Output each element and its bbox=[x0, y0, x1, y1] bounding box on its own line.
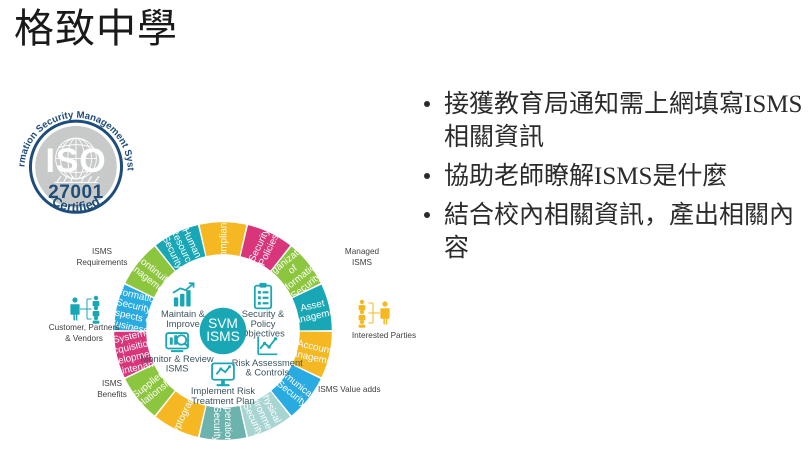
bullet-text: 接獲教育局通知需上網填寫ISMS相關資訊 bbox=[444, 91, 802, 151]
caption-isms-requirements: ISMS Requirements bbox=[62, 246, 142, 268]
wheel-core-line2: ISMS bbox=[206, 329, 240, 344]
list-item: 接獲教育局通知需上網填寫ISMS相關資訊 bbox=[418, 88, 804, 154]
bullet-dot-icon bbox=[424, 212, 430, 218]
bullet-dot-icon bbox=[424, 101, 430, 107]
wheel-inner-item-label: Maintain &Improve bbox=[161, 309, 206, 329]
list-item: 結合校內相關資訊，產出相關內容 bbox=[418, 199, 804, 265]
wheel-segment-label: OperationsSecurity bbox=[211, 400, 233, 448]
iso-27001-certified-badge: ISO 27001 Information Security Managemen… bbox=[8, 96, 144, 232]
interested-parties-people-icon bbox=[354, 298, 394, 328]
page-title: 格致中學 bbox=[14, 4, 178, 54]
bullet-text: 協助老師瞭解ISMS是什麼 bbox=[444, 163, 727, 190]
bullet-text: 結合校內相關資訊，產出相關內容 bbox=[444, 202, 794, 262]
customer-partners-people-icon bbox=[66, 294, 106, 324]
slide-canvas: 格致中學 接獲教育局通知需上網填寫ISMS相關資訊 協助老師瞭解ISMS是什麼 … bbox=[0, 0, 812, 462]
caption-isms-benefits: ISMS Benefits bbox=[70, 378, 154, 400]
caption-interested-parties: Interested Parties bbox=[334, 330, 434, 341]
caption-managed-isms: Managed ISMS bbox=[322, 246, 402, 268]
caption-isms-value-adds: ISMS Value adds bbox=[318, 384, 410, 395]
isms-wheel-diagram: ComplianceSecurityPoliciesOrganizationof… bbox=[112, 220, 334, 442]
bullet-list: 接獲教育局通知需上網填寫ISMS相關資訊 協助老師瞭解ISMS是什麼 結合校內相… bbox=[418, 88, 804, 271]
wheel-inner-item-label: Implement RiskTreatment Plan bbox=[191, 386, 256, 406]
list-item: 協助老師瞭解ISMS是什麼 bbox=[418, 160, 804, 193]
badge-iso-text: ISO bbox=[45, 142, 106, 180]
caption-customer-partners-vendors: Customer, Partners & Vendors bbox=[28, 322, 140, 344]
bullet-dot-icon bbox=[424, 173, 430, 179]
